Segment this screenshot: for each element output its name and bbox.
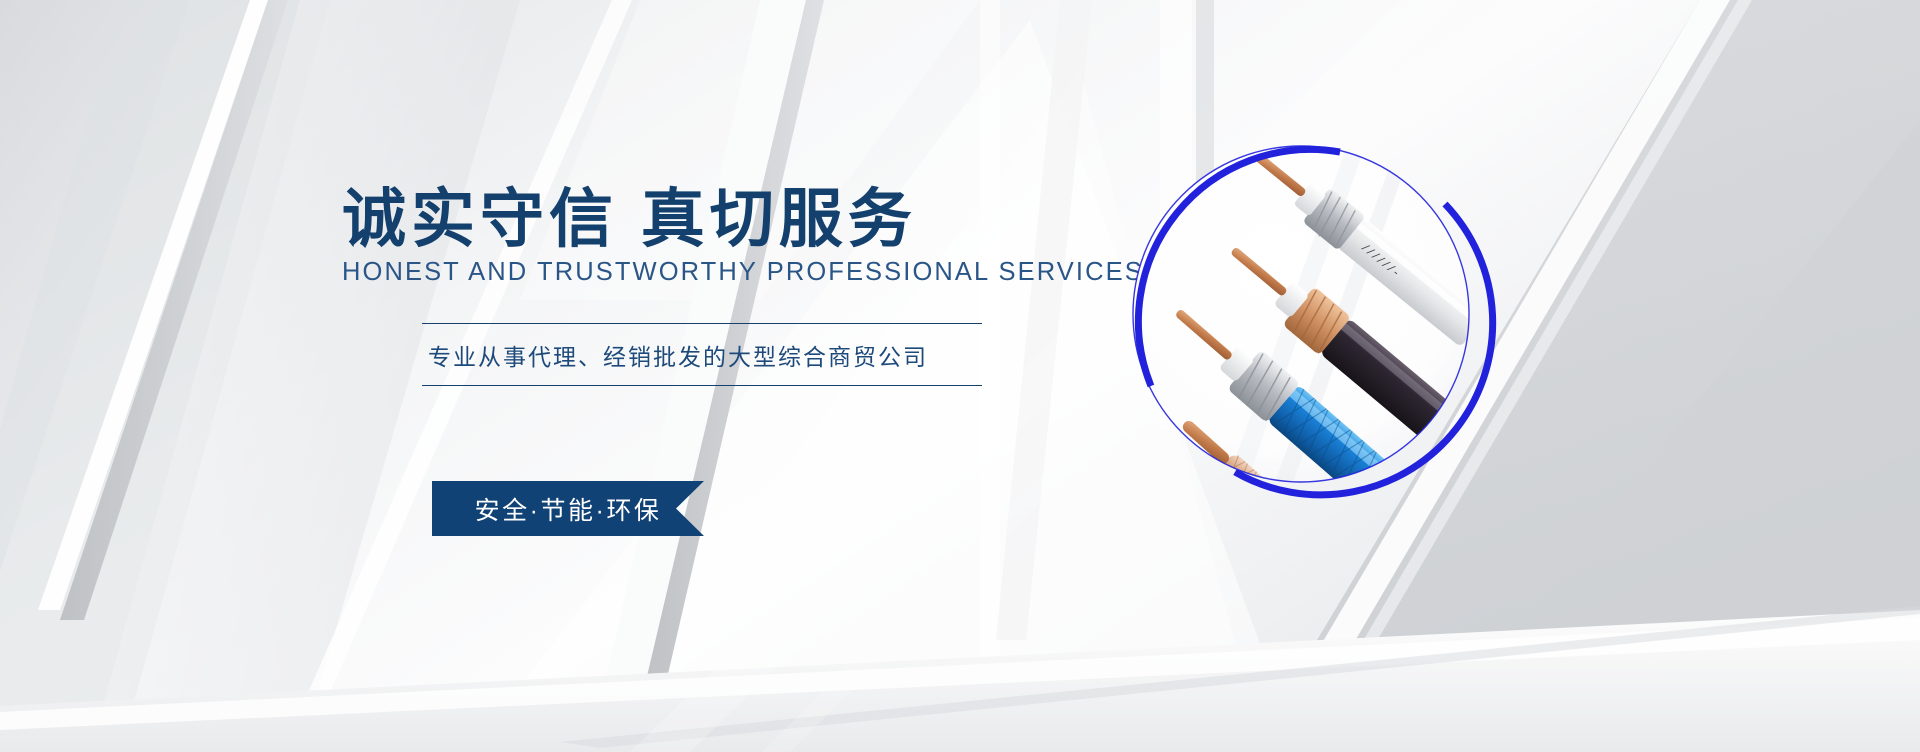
status-badge-label: 安全·节能·环保	[432, 481, 704, 536]
product-medallion: //////-	[1115, 128, 1487, 500]
page-title: 诚实守信 真切服务	[342, 186, 1138, 254]
page-subtitle: HONEST AND TRUSTWORTHY PROFESSIONAL SERV…	[342, 258, 1138, 287]
status-badge: 安全·节能·环保	[432, 481, 752, 536]
banner-copy: 诚实守信 真切服务 HONEST AND TRUSTWORTHY PROFESS…	[418, 186, 1138, 386]
tagline-text: 专业从事代理、经销批发的大型综合商贸公司	[418, 324, 1138, 385]
divider-bottom	[422, 385, 982, 386]
hero-banner: 诚实守信 真切服务 HONEST AND TRUSTWORTHY PROFESS…	[0, 0, 1920, 752]
